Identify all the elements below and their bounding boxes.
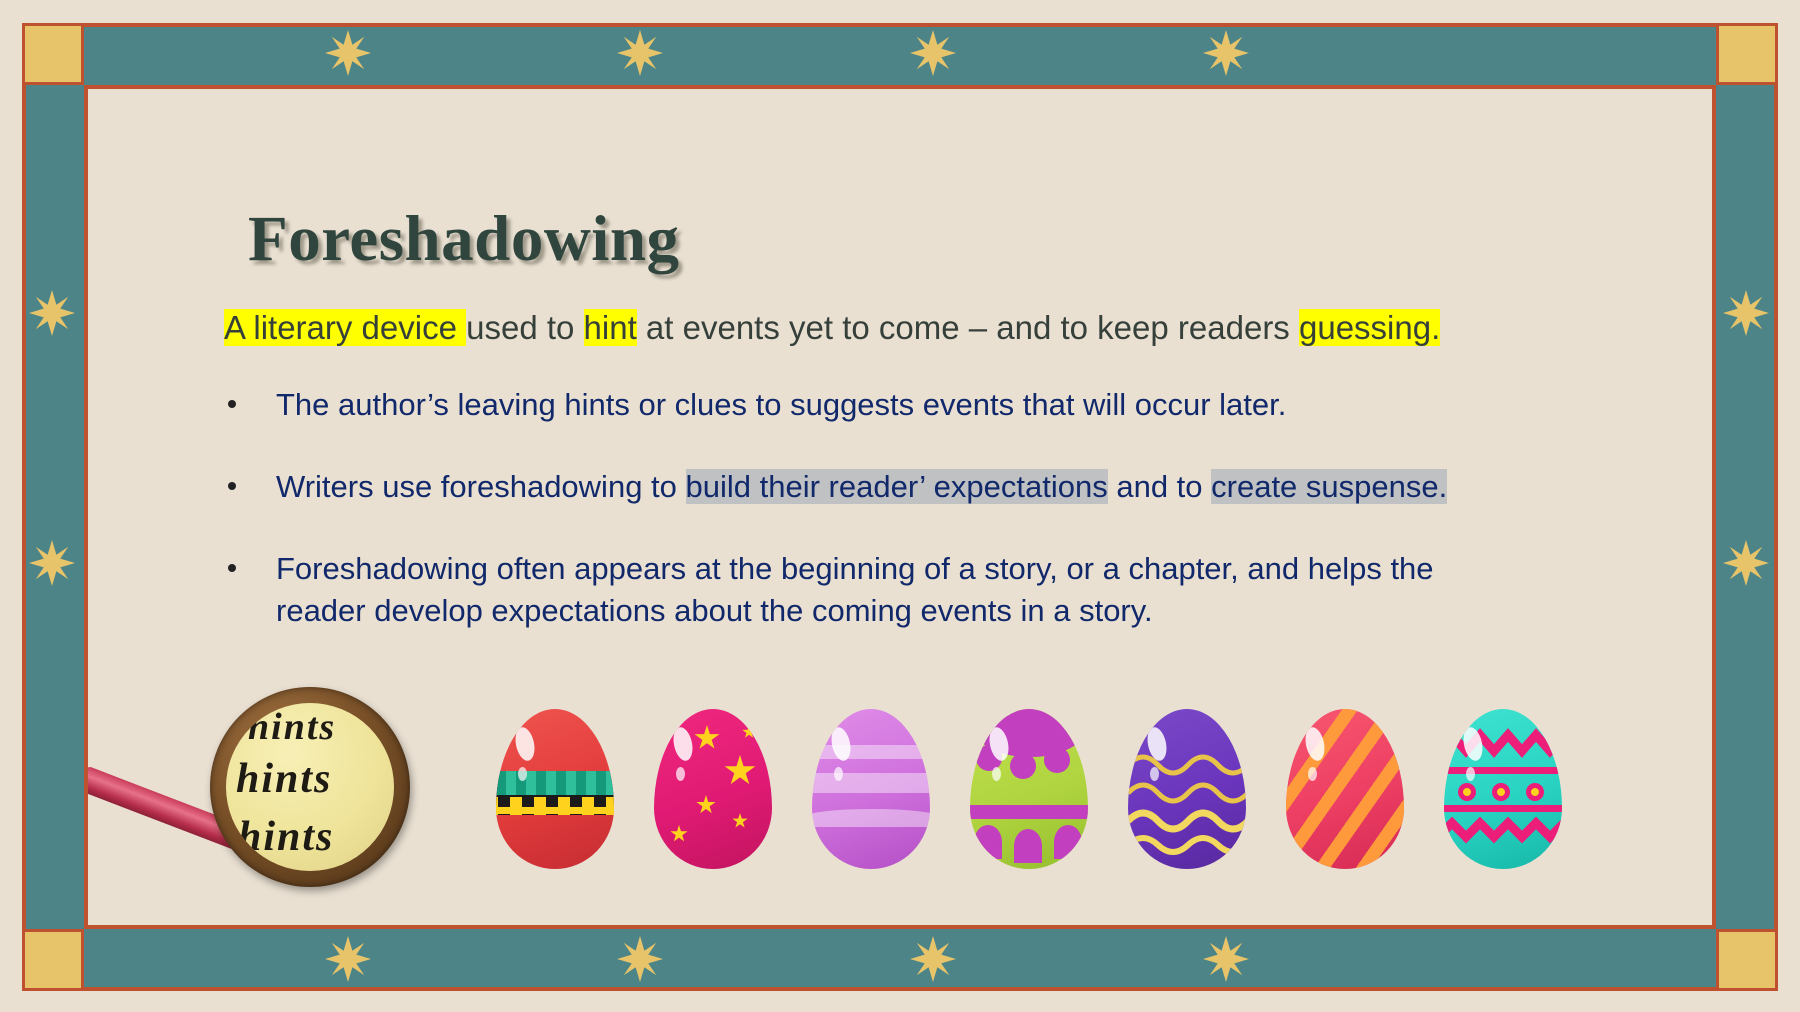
lead-highlight-1: A literary device — [224, 309, 466, 346]
corner-square-bottom-left — [22, 929, 84, 991]
lead-highlight-3: guessing. — [1299, 309, 1440, 346]
egg-dot-3 — [1526, 783, 1544, 801]
egg-dot-2 — [1492, 783, 1510, 801]
egg-stripe-3 — [812, 809, 930, 827]
magnifier-lens: hints hints hints — [226, 703, 394, 871]
bullet-text-1: The author’s leaving hints or clues to s… — [276, 387, 1286, 422]
egg-star-6 — [742, 725, 756, 739]
page-title: Foreshadowing — [248, 202, 679, 277]
egg-star-5 — [670, 825, 688, 843]
star-icon-bottom-2 — [617, 936, 663, 982]
star-icon-right-2 — [1723, 540, 1769, 586]
corner-square-top-right — [1716, 23, 1778, 85]
egg-scallop-3 — [1054, 825, 1082, 859]
bullet-list: The author’s leaving hints or clues to s… — [224, 384, 1484, 672]
egg-star-2 — [724, 755, 756, 787]
magnifying-glass-icon: hints hints hints — [88, 687, 448, 897]
violet-striped-egg — [812, 709, 930, 869]
egg-gloss-small — [834, 767, 843, 781]
lead-sentence: A literary device used to hint at events… — [224, 305, 1440, 351]
egg-dot-row — [1458, 783, 1544, 801]
star-icon-top-4 — [1203, 30, 1249, 76]
star-icon-bottom-4 — [1203, 936, 1249, 982]
star-icon-bottom-1 — [325, 936, 371, 982]
magenta-star-egg — [654, 709, 772, 869]
egg-stripe-1 — [812, 745, 930, 759]
egg-scallop-2 — [1014, 829, 1042, 863]
egg-stripe-2 — [812, 773, 930, 793]
star-icon-right-1 — [1723, 290, 1769, 336]
egg-gloss-small — [992, 767, 1001, 781]
egg-dot-1 — [1458, 783, 1476, 801]
bullet-text-2b: and to — [1108, 469, 1211, 504]
egg-triangle-row-teal — [496, 771, 614, 795]
star-icon-top-3 — [910, 30, 956, 76]
list-item: The author’s leaving hints or clues to s… — [224, 384, 1484, 426]
list-item: Writers use foreshadowing to build their… — [224, 466, 1484, 508]
bullet-highlight-2b: create suspense. — [1211, 469, 1447, 504]
slide-content-panel: Foreshadowing A literary device used to … — [84, 85, 1716, 929]
magnifier-ring: hints hints hints — [210, 687, 410, 887]
egg-star-3 — [696, 795, 716, 815]
bullet-text-3: Foreshadowing often appears at the begin… — [276, 551, 1434, 628]
egg-band-yellow — [496, 807, 614, 814]
egg-drip-3 — [1044, 747, 1070, 773]
corner-square-top-left — [22, 23, 84, 85]
egg-gold-waves — [1128, 709, 1246, 869]
egg-drip-2 — [1010, 753, 1036, 779]
magnifier-word-2: hints — [236, 755, 332, 803]
magnifier-word-1: hints — [248, 705, 336, 749]
egg-gloss-small — [1308, 767, 1317, 781]
decorative-image-row: hints hints hints — [88, 687, 1716, 897]
teal-zigzag-egg — [1444, 709, 1562, 869]
egg-star-4 — [732, 813, 748, 829]
star-icon-bottom-3 — [910, 936, 956, 982]
bullet-dot-icon — [228, 482, 236, 490]
star-icon-top-1 — [325, 30, 371, 76]
egg-gloss — [513, 726, 538, 763]
lead-plain-1: used to — [466, 309, 583, 346]
green-purple-drip-egg — [970, 709, 1088, 869]
star-icon-left-2 — [29, 540, 75, 586]
bullet-text-2a: Writers use foreshadowing to — [276, 469, 686, 504]
egg-gloss-small — [1466, 767, 1475, 781]
bullet-dot-icon — [228, 564, 236, 572]
list-item: Foreshadowing often appears at the begin… — [224, 548, 1484, 632]
egg-scallop-1 — [974, 825, 1002, 859]
star-icon-left-1 — [29, 290, 75, 336]
lead-plain-2: at events yet to come – and to keep read… — [637, 309, 1299, 346]
lead-highlight-2: hint — [584, 309, 637, 346]
slide-canvas: Foreshadowing A literary device used to … — [0, 0, 1800, 1012]
bullet-dot-icon — [228, 400, 236, 408]
magnifier-word-3: hints — [238, 813, 334, 861]
red-geometric-egg — [496, 709, 614, 869]
egg-belt — [970, 805, 1088, 819]
star-icon-top-2 — [617, 30, 663, 76]
purple-gold-wave-egg — [1128, 709, 1246, 869]
egg-star-1 — [694, 725, 720, 751]
egg-gloss — [671, 726, 696, 763]
egg-gloss-small — [1150, 767, 1159, 781]
egg-gloss-small — [518, 767, 527, 781]
egg-gloss-small — [676, 767, 685, 781]
egg-diagonal-stripes — [1286, 709, 1404, 869]
corner-square-bottom-right — [1716, 929, 1778, 991]
bullet-highlight-2a: build their reader’ expectations — [686, 469, 1108, 504]
pink-orange-diagonal-egg — [1286, 709, 1404, 869]
